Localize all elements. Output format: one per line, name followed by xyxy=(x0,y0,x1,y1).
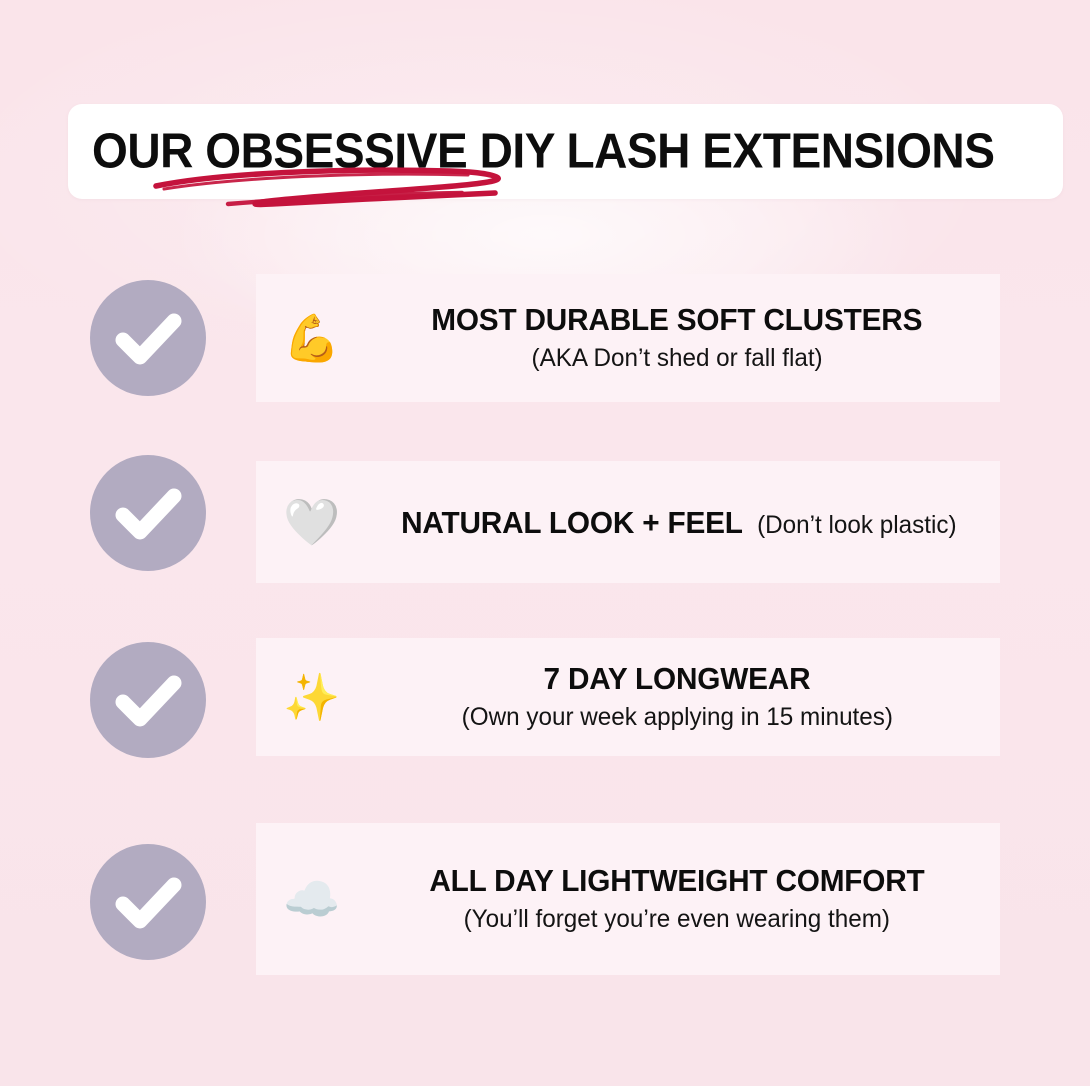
promo-poster: OUR OBSESSIVE DIY LASH EXTENSIONS 💪 MOST… xyxy=(0,0,1090,1086)
feature-title: NATURAL LOOK + FEEL xyxy=(401,506,743,541)
title-card: OUR OBSESSIVE DIY LASH EXTENSIONS xyxy=(68,104,1063,199)
feature-card: 🤍 NATURAL LOOK + FEEL (Don’t look plasti… xyxy=(256,461,1000,583)
feature-title: ALL DAY LIGHTWEIGHT COMFORT xyxy=(429,864,924,899)
flexed-bicep-emoji: 💪 xyxy=(256,315,368,361)
check-badge xyxy=(90,455,206,571)
feature-card: ☁️ ALL DAY LIGHTWEIGHT COMFORT (You’ll f… xyxy=(256,823,1000,975)
feature-card: ✨ 7 DAY LONGWEAR (Own your week applying… xyxy=(256,638,1000,756)
feature-text: NATURAL LOOK + FEEL (Don’t look plastic) xyxy=(368,504,1000,541)
feature-title: MOST DURABLE SOFT CLUSTERS xyxy=(431,303,922,338)
feature-subtitle: (Don’t look plastic) xyxy=(757,511,956,540)
check-badge xyxy=(90,844,206,960)
check-badge xyxy=(90,642,206,758)
check-badge xyxy=(90,280,206,396)
feature-card: 💪 MOST DURABLE SOFT CLUSTERS (AKA Don’t … xyxy=(256,274,1000,402)
white-heart-emoji: 🤍 xyxy=(256,499,368,545)
feature-subtitle: (You’ll forget you’re even wearing them) xyxy=(464,905,890,934)
check-icon xyxy=(90,844,206,960)
feature-text: MOST DURABLE SOFT CLUSTERS (AKA Don’t sh… xyxy=(368,303,1000,373)
check-icon xyxy=(90,455,206,571)
sparkles-emoji: ✨ xyxy=(256,674,368,720)
feature-text: 7 DAY LONGWEAR (Own your week applying i… xyxy=(368,662,1000,732)
feature-text: ALL DAY LIGHTWEIGHT COMFORT (You’ll forg… xyxy=(368,864,1000,934)
feature-subtitle: (Own your week applying in 15 minutes) xyxy=(461,703,892,732)
feature-subtitle: (AKA Don’t shed or fall flat) xyxy=(531,344,822,373)
check-icon xyxy=(90,642,206,758)
cloud-emoji: ☁️ xyxy=(256,876,368,922)
check-icon xyxy=(90,280,206,396)
page-title: OUR OBSESSIVE DIY LASH EXTENSIONS xyxy=(92,127,994,176)
feature-title: 7 DAY LONGWEAR xyxy=(544,662,811,697)
